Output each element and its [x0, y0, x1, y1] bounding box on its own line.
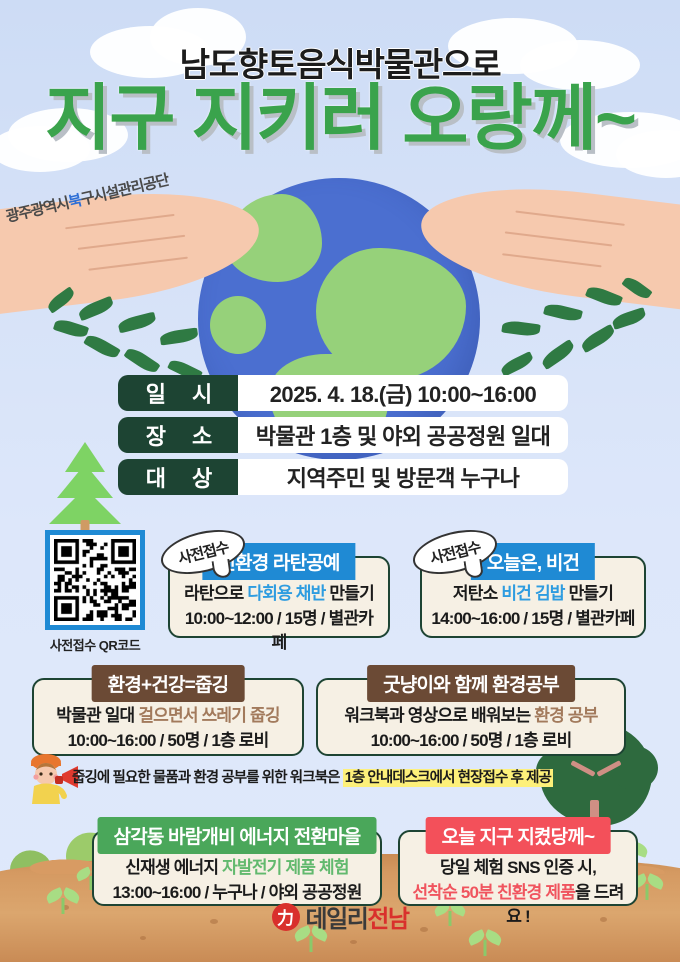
program-line-1: 신재생 에너지 자발전기 제품 체험: [102, 856, 372, 881]
notice-text: 줍깅에 필요한 물품과 환경 공부를 위한 워크북은 1층 안내데스크에서 현장…: [72, 766, 632, 787]
info-value-date: 2025. 4. 18.(금) 10:00~16:00: [238, 375, 568, 411]
olive-branch-right: [466, 262, 656, 382]
program-line-1: 저탄소 비건 김밥 만들기: [430, 582, 636, 607]
program-card-header: 오늘 지구 지켰당께~: [426, 817, 611, 854]
notice-prefix: 줍깅에 필요한 물품과 환경 공부를 위한 워크북은: [72, 770, 343, 786]
program-line-1: 당일 체험 SNS 인증 시,: [408, 856, 628, 881]
program-line-2: 10:00~12:00 / 15명 / 별관카페: [178, 607, 380, 656]
program-line-2: 10:00~16:00 / 50명 / 1층 로비: [42, 729, 294, 754]
pre-register-badge-label: 사전접수: [428, 536, 483, 569]
qr-code-section: 사전접수 QR코드: [36, 530, 154, 654]
program-line-1: 워크북과 영상으로 배워보는 환경 공부: [326, 704, 616, 729]
program-card-energy-village[interactable]: 삼각동 바람개비 에너지 전환마을 신재생 에너지 자발전기 제품 체험 13:…: [92, 830, 382, 906]
program-line-2: 14:00~16:00 / 15명 / 별관카페: [430, 607, 636, 632]
info-key-place: 장 소: [118, 417, 238, 453]
program-card-sns-event[interactable]: 오늘 지구 지켰당께~ 당일 체험 SNS 인증 시, 선착순 50분 친환경 …: [398, 830, 638, 906]
info-value-place: 박물관 1층 및 야외 공공정원 일대: [238, 417, 568, 453]
pine-tree-illustration: [46, 440, 124, 536]
page-title: 지구 지키러 오랑께~: [0, 82, 680, 158]
daily-jeonnam-logo-icon: 力: [272, 903, 300, 931]
table-row: 장 소 박물관 1층 및 야외 공공정원 일대: [118, 417, 568, 453]
program-card-eco-study[interactable]: 굿냥이와 함께 환경공부 워크북과 영상으로 배워보는 환경 공부 10:00~…: [316, 678, 626, 756]
poster-root: 남도향토음식박물관으로 지구 지키러 오랑께~ 광주광역시북구시설관리공단 일 …: [0, 0, 680, 962]
program-card-header: 환경+건강=줍깅: [92, 665, 245, 702]
table-row: 대 상 지역주민 및 방문객 누구나: [118, 459, 568, 495]
olive-branch-left: [44, 268, 234, 378]
info-key-audience: 대 상: [118, 459, 238, 495]
qr-code-caption: 사전접수 QR코드: [36, 635, 154, 654]
footer-logo: 力 데일리전남: [0, 899, 680, 934]
program-card-plogging[interactable]: 환경+건강=줍깅 박물관 일대 걸으면서 쓰레기 줍깅 10:00~16:00 …: [32, 678, 304, 756]
table-row: 일 시 2025. 4. 18.(금) 10:00~16:00: [118, 375, 568, 411]
pre-register-badge-label: 사전접수: [176, 536, 231, 569]
program-card-header: 삼각동 바람개비 에너지 전환마을: [98, 817, 377, 854]
program-line-1: 박물관 일대 걸으면서 쓰레기 줍깅: [42, 704, 294, 729]
footer-logo-text: 데일리전남: [306, 899, 409, 934]
info-value-audience: 지역주민 및 방문객 누구나: [238, 459, 568, 495]
program-line-1: 라탄으로 다회용 채반 만들기: [178, 582, 380, 607]
notice-highlight: 1층 안내데스크에서 현장접수 후 제공: [343, 769, 553, 787]
qr-code-image[interactable]: [45, 530, 145, 630]
event-info-table: 일 시 2025. 4. 18.(금) 10:00~16:00 장 소 박물관 …: [118, 375, 568, 501]
program-card-header: 굿냥이와 함께 환경공부: [367, 665, 575, 702]
program-line-2: 10:00~16:00 / 50명 / 1층 로비: [326, 729, 616, 754]
info-key-date: 일 시: [118, 375, 238, 411]
